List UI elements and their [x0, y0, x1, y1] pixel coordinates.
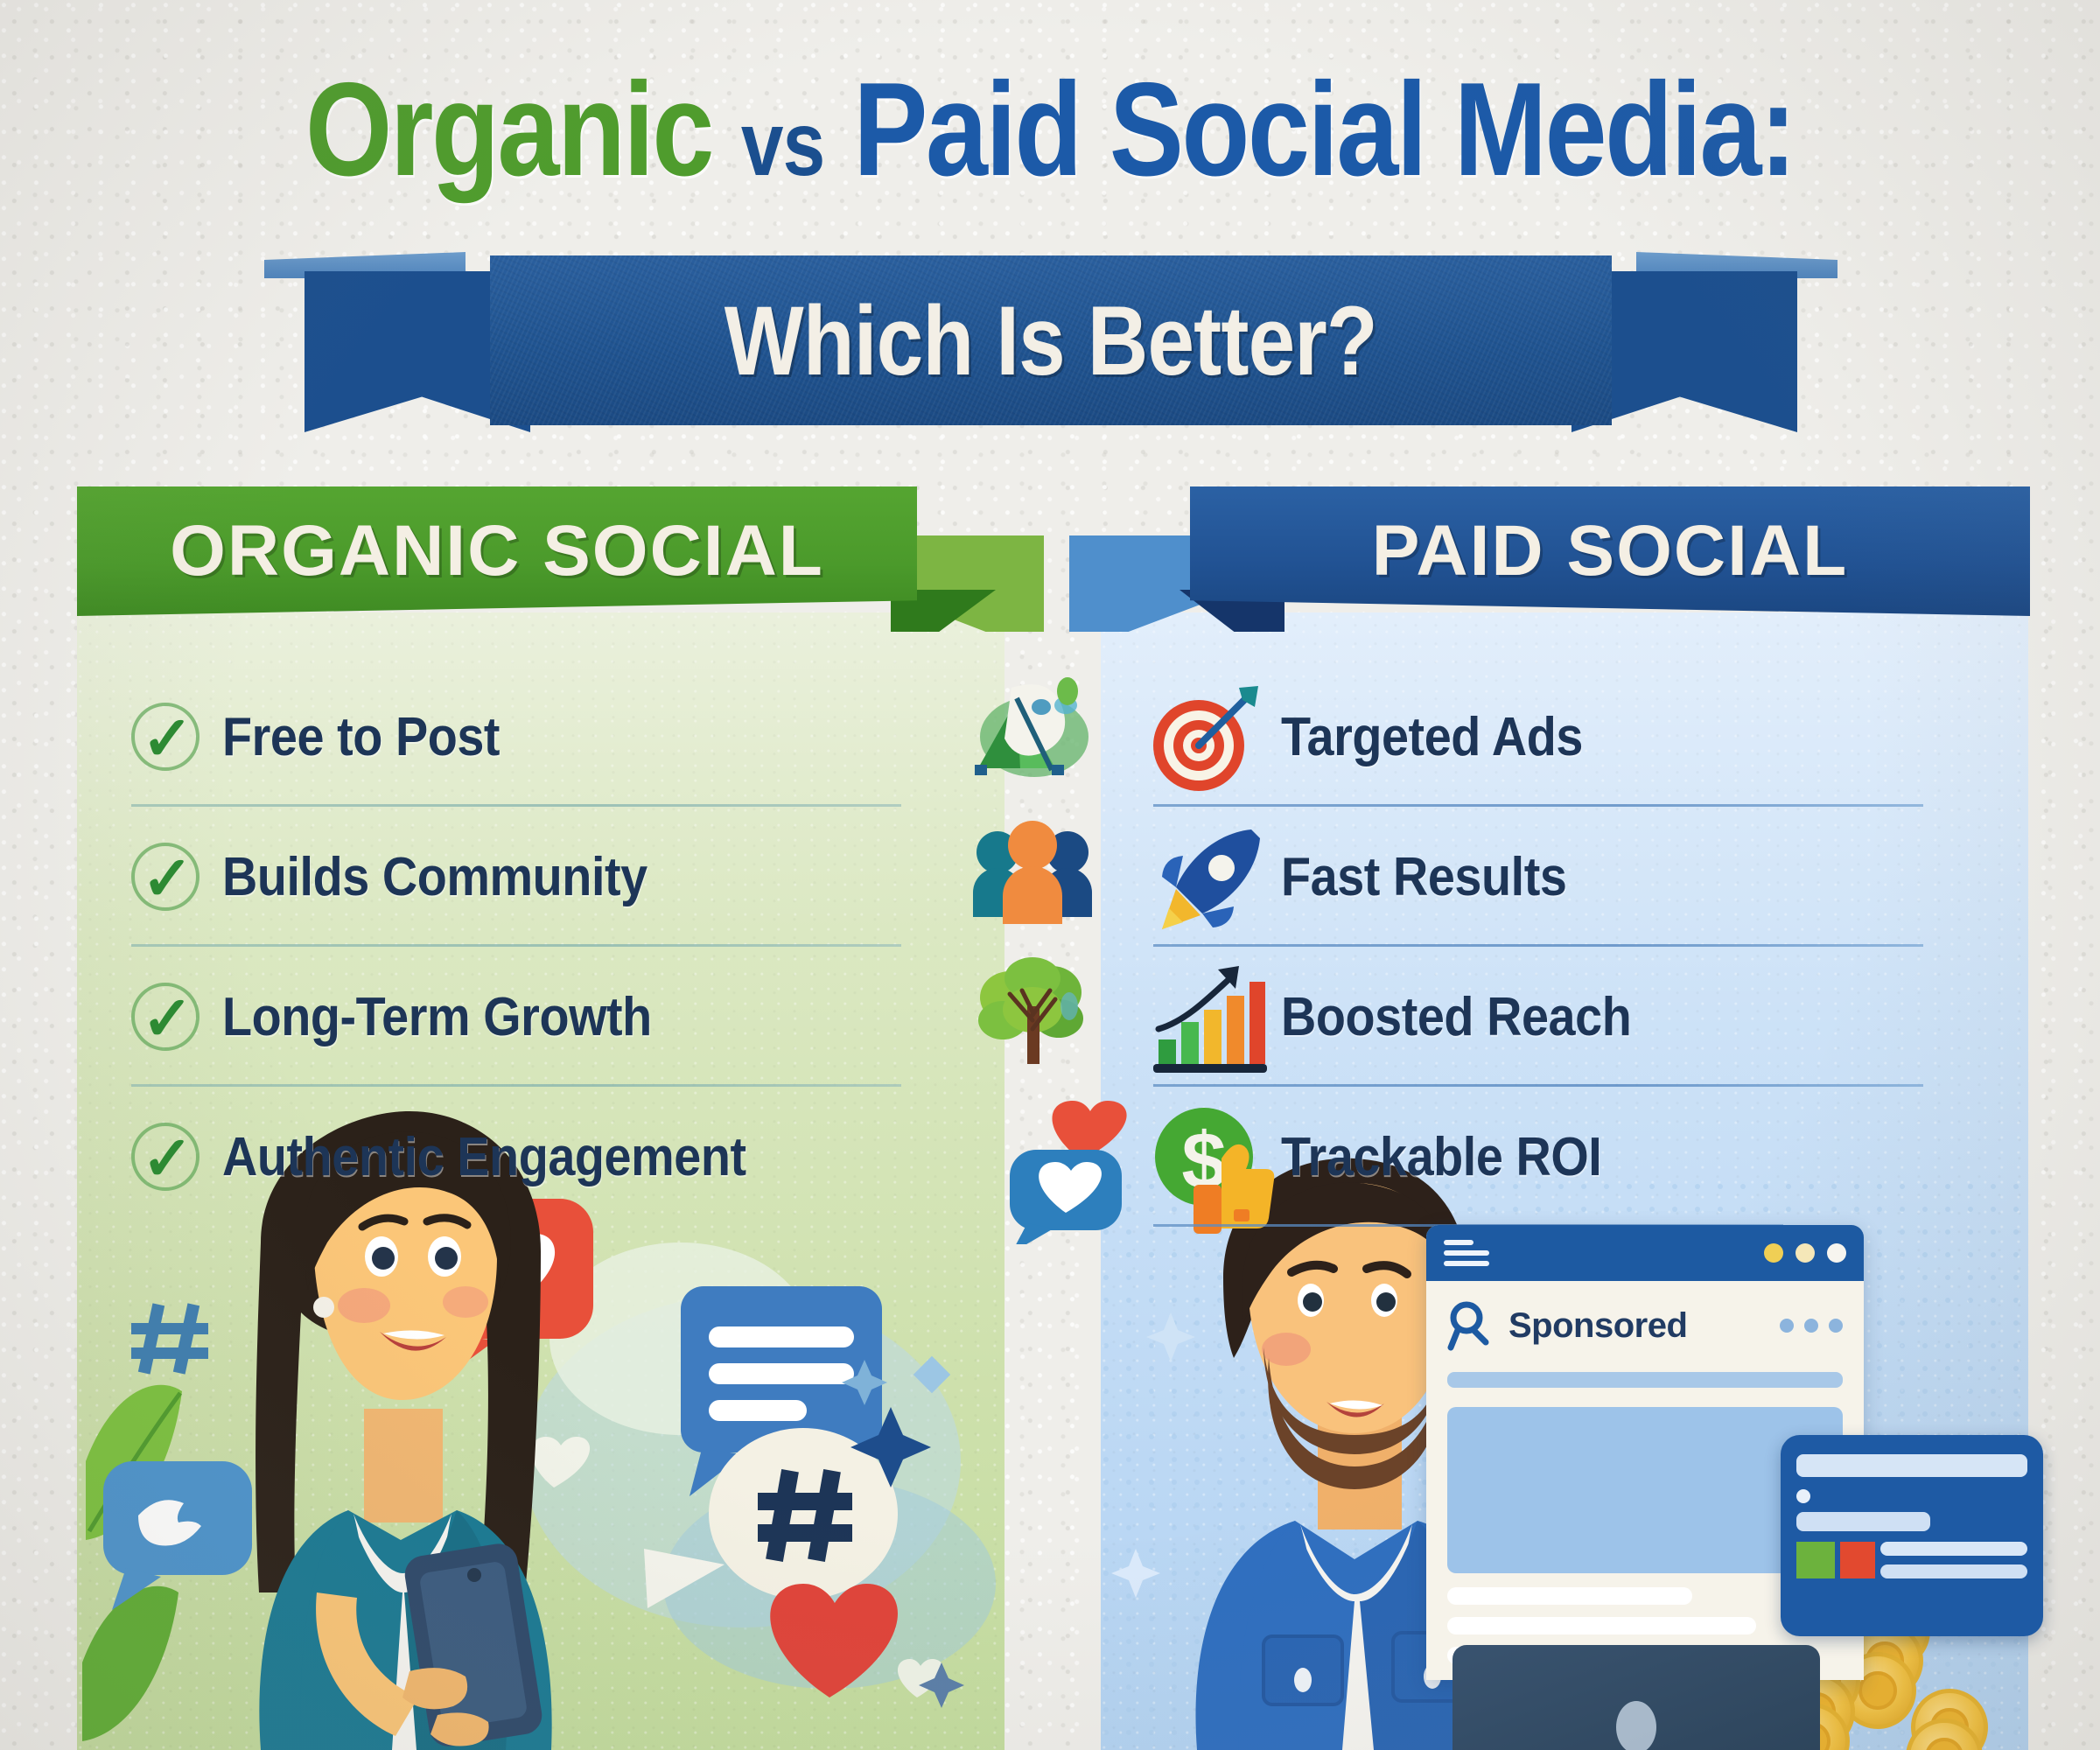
- paid-header-band: PAID SOCIAL: [1076, 486, 2030, 626]
- hashtag-symbol: [131, 1303, 208, 1374]
- card-chip-red: [1840, 1542, 1875, 1578]
- paid-header-label: PAID SOCIAL: [1372, 510, 1848, 592]
- ad-skeleton-line-1: [1447, 1372, 1843, 1388]
- check-circle-icon: ✓: [131, 1123, 199, 1191]
- white-heart-small: [531, 1437, 590, 1487]
- sparkle-pale: [1146, 1312, 1195, 1361]
- hashtag-circle-badge: [709, 1428, 898, 1599]
- white-heart-bottom: [898, 1659, 943, 1697]
- paid-header: PAID SOCIAL: [1190, 486, 2030, 616]
- organic-item-label-1: Builds Community: [222, 846, 647, 908]
- laptop-device: [1452, 1645, 1820, 1750]
- ribbon-body: Which Is Better?: [490, 255, 1612, 425]
- ad-skeleton-line-2: [1447, 1587, 1692, 1605]
- organic-item-label-0: Free to Post: [222, 706, 500, 768]
- sparkle-blue: [842, 1360, 887, 1405]
- title-word-vs: vs: [741, 94, 824, 195]
- list-item[interactable]: ✓ Authentic Engagement: [131, 1087, 1006, 1227]
- message-lines-bubble: [681, 1286, 882, 1496]
- card-dot: [1796, 1489, 1810, 1503]
- page-title: Organic vs Paid Social Media:: [168, 63, 1932, 196]
- list-item[interactable]: Targeted Ads: [1153, 667, 2028, 807]
- paid-item-label-2: Boosted Reach: [1281, 986, 1631, 1048]
- title-word-organic: Organic: [305, 55, 712, 204]
- hamburger-icon[interactable]: [1444, 1240, 1489, 1266]
- card-stripe-a: [1880, 1542, 2027, 1556]
- list-item[interactable]: ✓ Free to Post: [131, 667, 1006, 807]
- card-stripe-mid: [1796, 1512, 1930, 1531]
- check-circle-icon: ✓: [131, 703, 199, 771]
- list-item[interactable]: Boosted Reach: [1153, 947, 2028, 1087]
- title-word-paid: Paid Social Media:: [853, 55, 1795, 204]
- list-item[interactable]: ✓ Builds Community: [131, 807, 1006, 947]
- paid-item-label-3: Trackable ROI: [1281, 1126, 1601, 1188]
- sparkle-navy: [850, 1407, 931, 1487]
- ad-skeleton-line-3: [1447, 1617, 1756, 1634]
- people-group-icon: [971, 815, 1094, 938]
- paid-item-label-1: Fast Results: [1281, 846, 1566, 908]
- bird-chat-bubble: [103, 1461, 252, 1610]
- ribbon-label: Which Is Better?: [724, 284, 1377, 397]
- card-chip-green: [1796, 1542, 1835, 1578]
- organic-header: ORGANIC SOCIAL: [77, 486, 917, 616]
- diamond-shape: [913, 1356, 950, 1393]
- organic-header-band: ORGANIC SOCIAL: [77, 486, 1031, 626]
- sponsored-magnifier-icon: [1447, 1300, 1493, 1351]
- card-stripe-b: [1880, 1564, 2027, 1578]
- send-triangle-icon: [644, 1549, 724, 1608]
- red-heart-large: [770, 1584, 898, 1697]
- sparkle-grey: [919, 1662, 964, 1708]
- sponsored-header-row: Sponsored: [1426, 1281, 1864, 1351]
- window-dot-cream: [1795, 1243, 1815, 1263]
- card-stripe-top: [1796, 1454, 2027, 1477]
- organic-feature-list: ✓ Free to Post ✓ Builds Community: [131, 667, 1006, 1227]
- ad-card-titlebar: [1426, 1225, 1864, 1281]
- check-circle-icon: ✓: [131, 843, 199, 911]
- sparkle-pale-2: [1111, 1549, 1160, 1598]
- sponsored-label: Sponsored: [1508, 1306, 1687, 1346]
- organic-item-label-2: Long-Term Growth: [222, 986, 652, 1048]
- overflow-menu-icon[interactable]: [1780, 1319, 1843, 1333]
- dollar-thumbsup-icon: $: [1153, 1104, 1258, 1209]
- check-circle-icon: ✓: [131, 983, 199, 1051]
- leaf-icon: [82, 1385, 182, 1741]
- organic-item-label-3: Authentic Engagement: [222, 1126, 746, 1188]
- paid-feature-list: Targeted Ads Fast Results: [1153, 667, 2028, 1227]
- heart-chat-icon: [997, 1095, 1120, 1218]
- list-item[interactable]: $ Trackable ROI: [1153, 1087, 2028, 1227]
- tree-icon: [971, 955, 1094, 1078]
- list-item[interactable]: Fast Results: [1153, 807, 2028, 947]
- window-dots: [1764, 1243, 1846, 1263]
- credit-card-panel: [1781, 1435, 2043, 1636]
- tent-icon: [971, 675, 1094, 798]
- subtitle-ribbon: Which Is Better?: [304, 252, 1797, 432]
- window-dot-white: [1827, 1243, 1846, 1263]
- paid-item-label-0: Targeted Ads: [1281, 706, 1583, 768]
- window-dot-yellow: [1764, 1243, 1783, 1263]
- rocket-icon: [1153, 824, 1258, 929]
- bar-chart-growth-icon: [1153, 964, 1258, 1069]
- organic-header-label: ORGANIC SOCIAL: [170, 510, 824, 592]
- target-dartboard-icon: [1153, 684, 1258, 789]
- list-item[interactable]: ✓ Long-Term Growth: [131, 947, 1006, 1087]
- organic-illustration: [77, 1172, 1004, 1750]
